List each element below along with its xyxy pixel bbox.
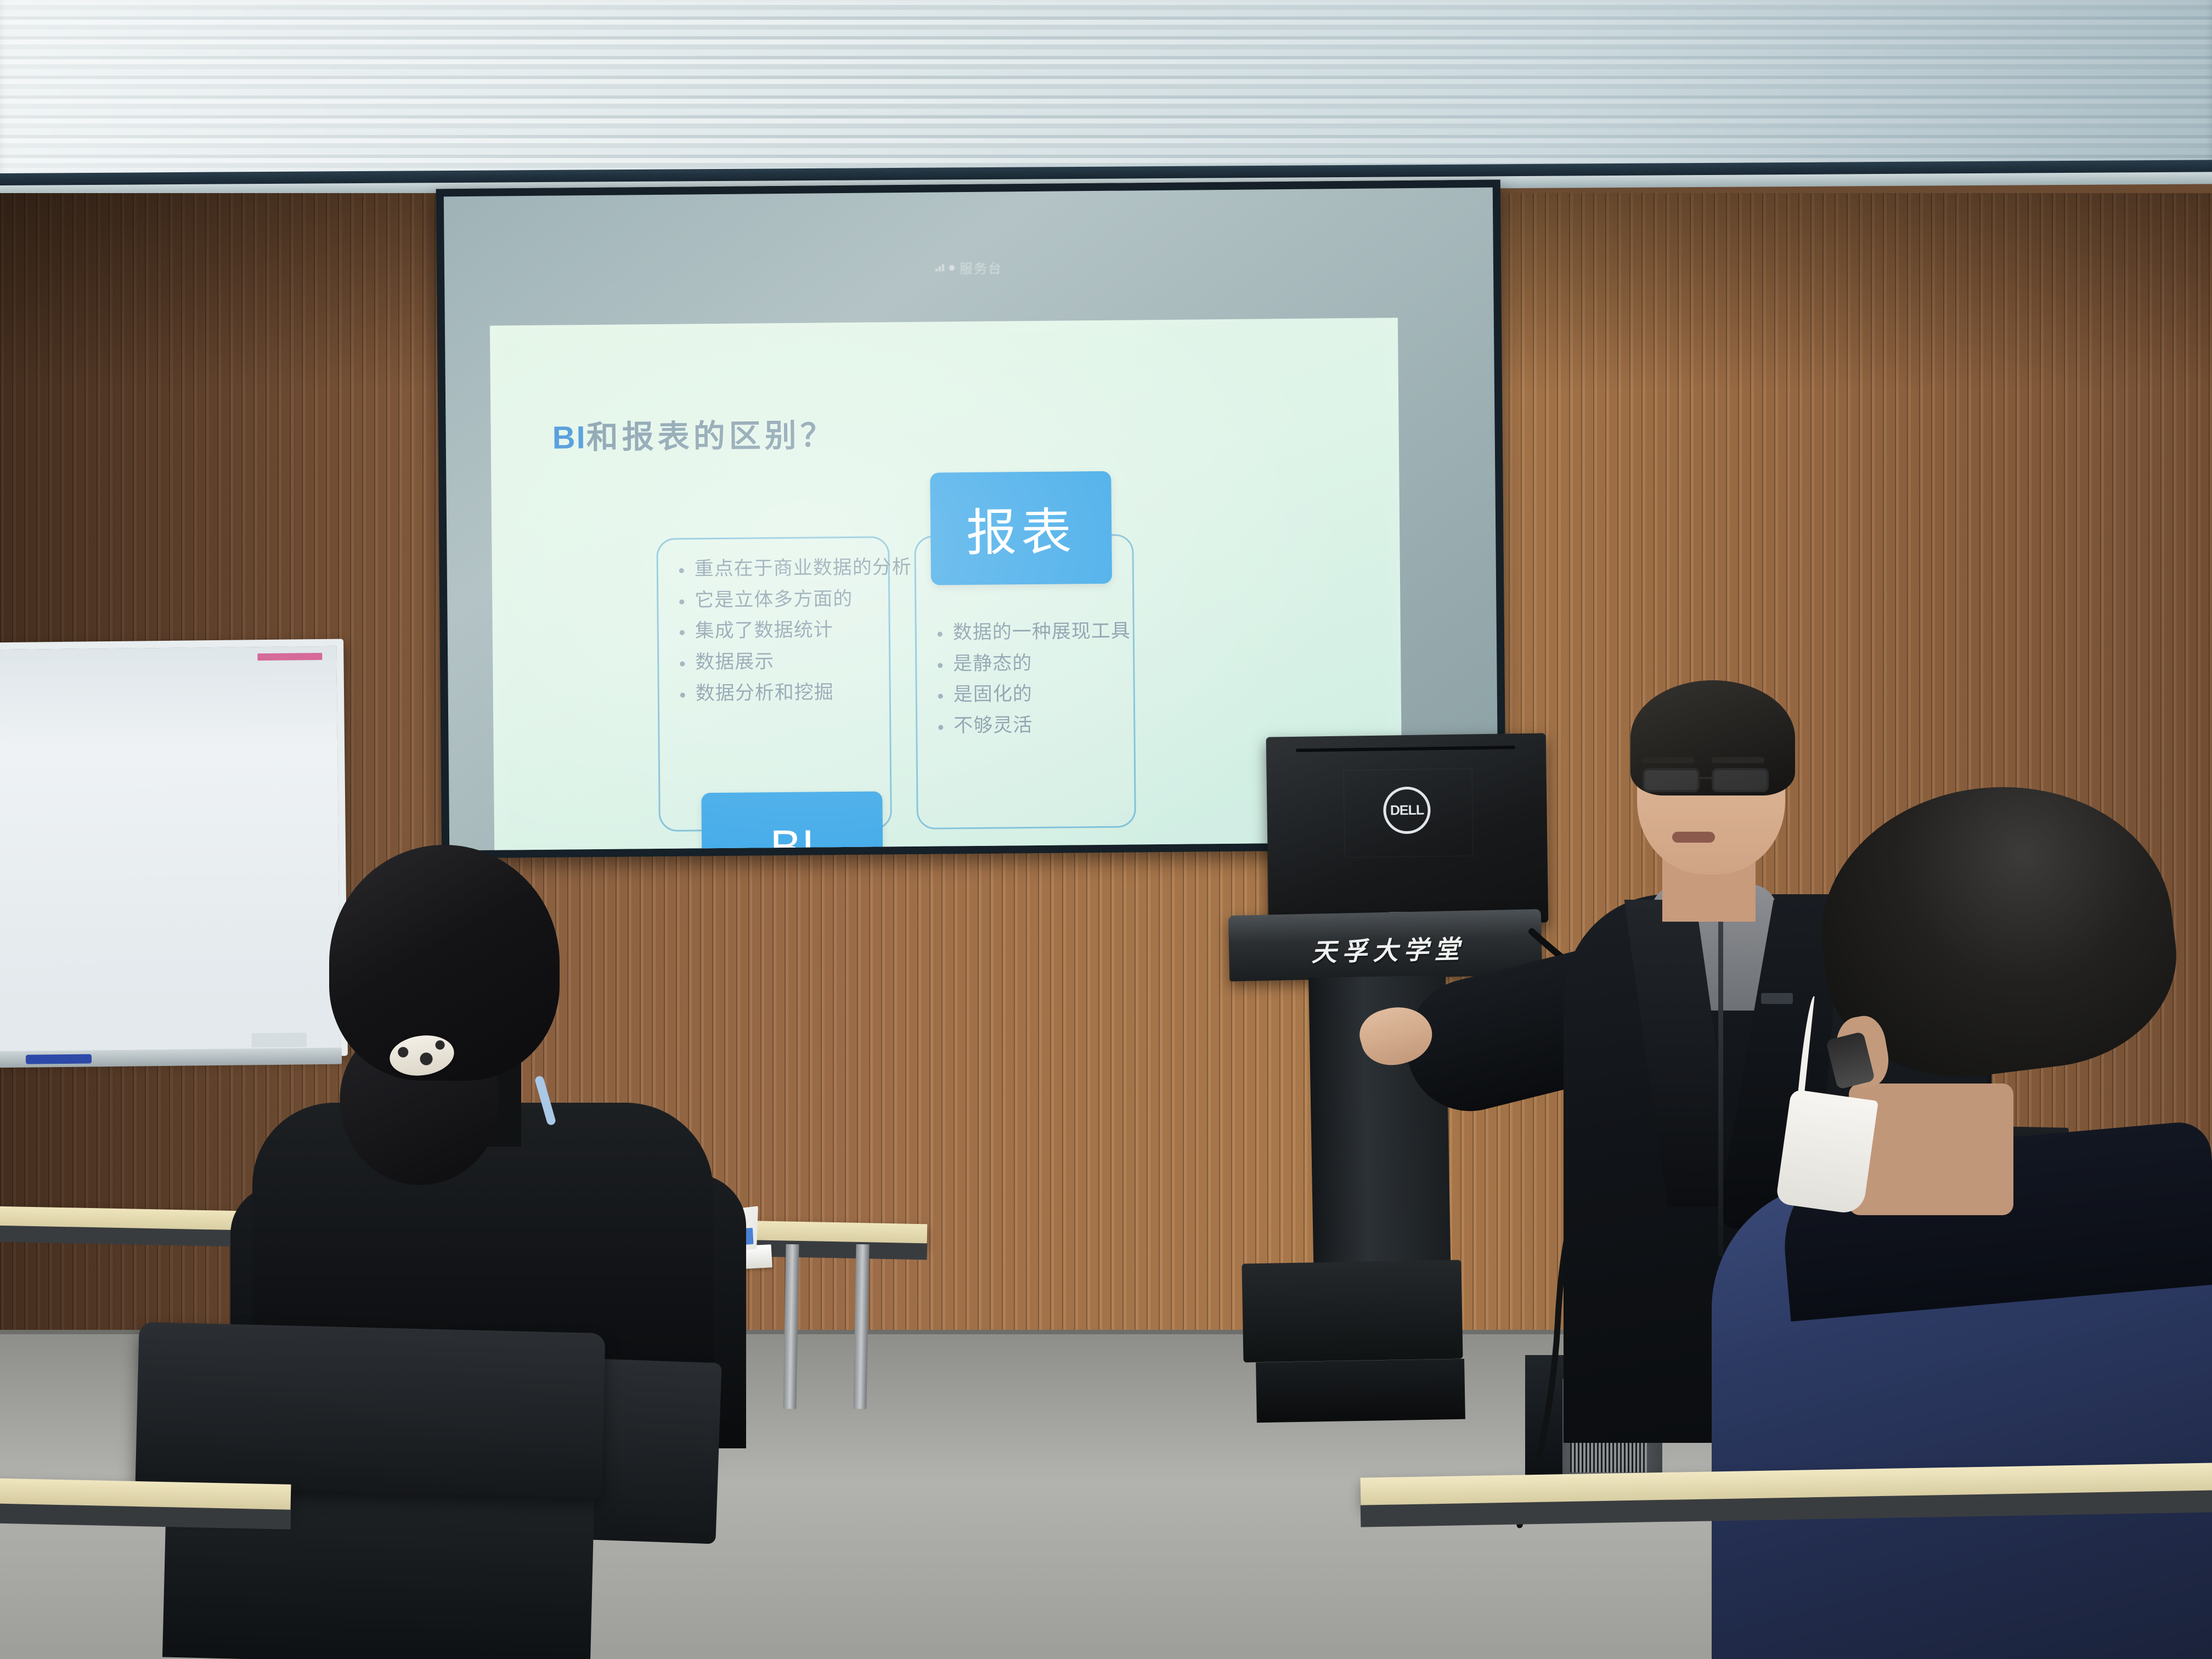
- ceiling-slat-panel: [0, 0, 2212, 181]
- monitor-vent: [1296, 746, 1515, 752]
- list-item: 数据展示: [674, 645, 883, 678]
- list-item: 集成了数据统计: [674, 614, 883, 647]
- podium-shelf: [1256, 1359, 1465, 1423]
- report-bullet-list: 数据的一种展现工具 是静态的 是固化的 不够灵活: [932, 616, 1128, 742]
- dell-monitor: DELL: [1266, 733, 1549, 926]
- list-item: 数据的一种展现工具: [932, 616, 1127, 649]
- list-item: 是静态的: [932, 647, 1127, 680]
- presenter-brow-right: [1712, 757, 1764, 763]
- face-mask: [1775, 1089, 1878, 1215]
- whiteboard-label-sticker: [257, 653, 322, 661]
- list-item: 不够灵活: [933, 709, 1128, 742]
- slide-title-rest: 和报表的区别？: [586, 417, 836, 455]
- podium-engraving: 天孚大学堂: [1311, 929, 1465, 969]
- whiteboard-marker: [26, 1054, 92, 1064]
- attendee-front-right: [1717, 787, 2212, 1659]
- list-item: 数据分析和挖掘: [675, 676, 884, 709]
- bi-card: 重点在于商业数据的分析 它是立体多方面的 集成了数据统计 数据展示 数据分析和挖…: [656, 536, 892, 832]
- signal-bars-icon: [935, 264, 944, 271]
- list-item: 它是立体多方面的: [674, 583, 883, 616]
- glasses-lens-left: [1643, 768, 1700, 792]
- list-item: 是固化的: [933, 678, 1128, 711]
- slide-title-prefix: BI: [552, 420, 586, 456]
- watermark-text: 服务台: [960, 257, 1002, 277]
- bi-bullet-list: 重点在于商业数据的分析 它是立体多方面的 集成了数据统计 数据展示 数据分析和挖…: [674, 552, 884, 709]
- bi-tag: BI: [701, 791, 883, 850]
- presenter-brow-left: [1641, 757, 1694, 763]
- report-tag: 报表: [930, 471, 1112, 585]
- presenter-mouth: [1672, 832, 1715, 843]
- classroom-chair-back: [135, 1322, 605, 1498]
- classroom-photo: 服务台 BI和报表的区别？ 重点在于商业数据的分析 它是立体多方面的 集成了数据…: [0, 0, 2212, 1659]
- podium-base: [1242, 1260, 1463, 1363]
- glasses-bridge: [1700, 777, 1713, 779]
- screen-watermark: 服务台: [935, 257, 1002, 277]
- slide-title: BI和报表的区别？: [552, 409, 836, 458]
- dot-icon: [949, 265, 955, 270]
- list-item: 重点在于商业数据的分析: [674, 552, 883, 585]
